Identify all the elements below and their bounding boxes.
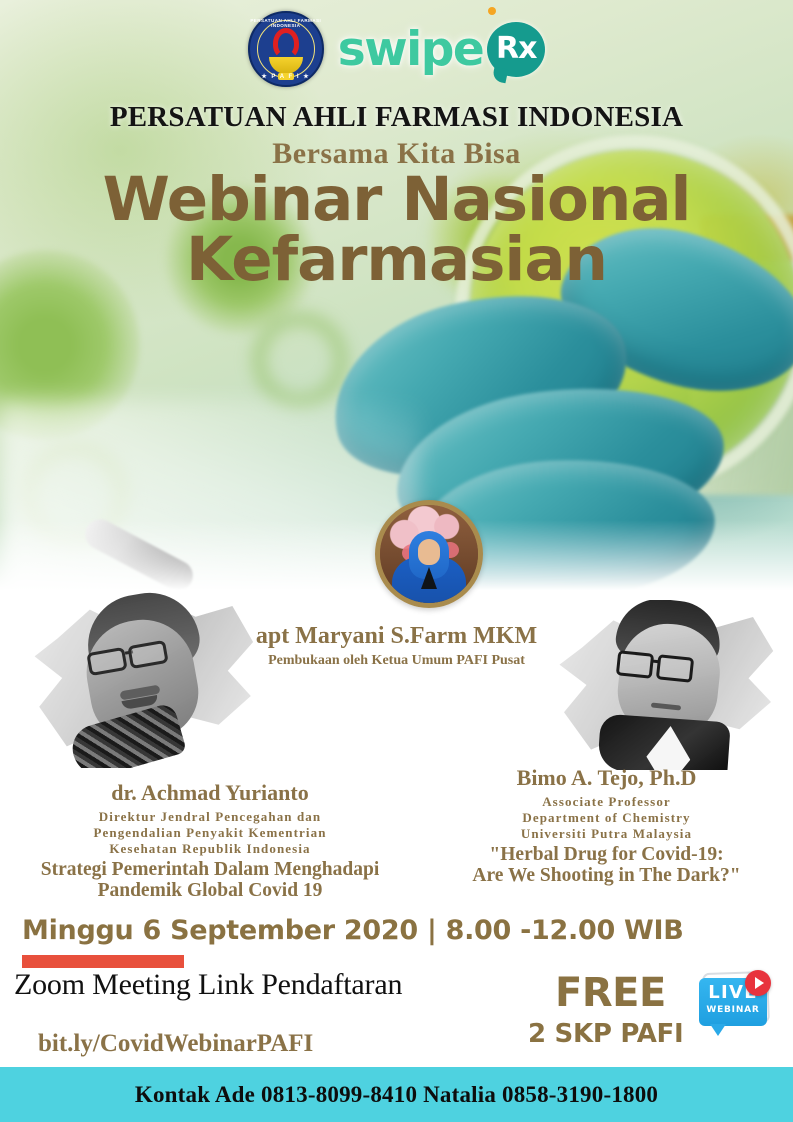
speaker-affiliation-line-3: Kesehatan Republik Indonesia	[0, 841, 420, 857]
contact-text: Kontak Ade 0813-8099-8410 Natalia 0858-3…	[135, 1082, 658, 1108]
speaker-affiliation-line-1: Associate Professor	[420, 794, 793, 810]
event-platform-line: Zoom Meeting Link Pendaftaran	[14, 968, 402, 1002]
speaker-affiliation-line-1: Direktur Jendral Pencegahan dan	[0, 809, 420, 825]
play-button-icon	[745, 970, 771, 996]
speaker-topic-line-1: "Herbal Drug for Covid-19:	[420, 844, 793, 866]
main-title-line-1: Webinar Nasional	[0, 170, 793, 230]
speaker-topic: "Herbal Drug for Covid-19: Are We Shooti…	[420, 844, 793, 888]
moderator-avatar	[375, 500, 483, 608]
speaker-topic-line-2: Pandemik Global Covid 19	[0, 880, 420, 902]
logo-row: PERSATUAN AHLI FARMASI INDONESIA ★ P A F…	[0, 6, 793, 92]
speaker-affiliation: Associate Professor Department of Chemis…	[420, 794, 793, 842]
speaker-affiliation-line-2: Pengendalian Penyakit Kementrian	[0, 825, 420, 841]
price-label: FREE	[555, 970, 666, 1016]
event-date-time: Minggu 6 September 2020 | 8.00 -12.00 WI…	[22, 915, 684, 946]
swiperx-dot-icon	[488, 7, 496, 15]
live-webinar-badge: LIVE WEBINAR	[697, 970, 777, 1042]
webinar-poster: PERSATUAN AHLI FARMASI INDONESIA ★ P A F…	[0, 0, 793, 1122]
credits-label: 2 SKP PAFI	[528, 1019, 683, 1049]
live-badge-line-2: WEBINAR	[699, 1006, 767, 1015]
speaker-info-achmad-yurianto: dr. Achmad Yurianto Direktur Jendral Pen…	[0, 780, 420, 902]
accent-underline	[22, 955, 184, 968]
main-title-line-2: Kefarmasian	[0, 230, 793, 290]
pafi-logo-ring-text-bottom: ★ P A F I ★	[250, 73, 322, 80]
swiperx-wordmark: swipe	[338, 26, 484, 73]
speaker-name: Bimo A. Tejo, Ph.D	[420, 765, 793, 791]
speaker-photo-bimo-tejo	[555, 600, 780, 770]
page-title: Webinar Nasional Kefarmasian	[0, 170, 793, 290]
speaker-affiliation: Direktur Jendral Pencegahan dan Pengenda…	[0, 809, 420, 857]
speaker-name: dr. Achmad Yurianto	[0, 780, 420, 806]
rx-speech-bubble-icon: Rx	[487, 22, 545, 77]
swiperx-logo: swipe Rx	[338, 22, 546, 77]
speaker-topic-line-1: Strategi Pemerintah Dalam Menghadapi	[0, 859, 420, 881]
organization-name: PERSATUAN AHLI FARMASI INDONESIA	[0, 101, 793, 134]
speaker-topic-line-2: Are We Shooting in The Dark?"	[420, 865, 793, 887]
snake-icon	[273, 28, 299, 59]
pafi-logo-icon: PERSATUAN AHLI FARMASI INDONESIA ★ P A F…	[248, 11, 324, 87]
registration-link[interactable]: bit.ly/CovidWebinarPAFI	[38, 1030, 313, 1058]
speaker-affiliation-line-3: Universiti Putra Malaysia	[420, 826, 793, 842]
speaker-info-bimo-tejo: Bimo A. Tejo, Ph.D Associate Professor D…	[420, 765, 793, 887]
pafi-logo-ring-text-top: PERSATUAN AHLI FARMASI INDONESIA	[250, 18, 322, 28]
rx-label: Rx	[496, 34, 536, 64]
speaker-photo-achmad-yurianto	[30, 588, 260, 768]
speaker-topic: Strategi Pemerintah Dalam Menghadapi Pan…	[0, 859, 420, 903]
speaker-affiliation-line-2: Department of Chemistry	[420, 810, 793, 826]
contact-bar: Kontak Ade 0813-8099-8410 Natalia 0858-3…	[0, 1067, 793, 1122]
